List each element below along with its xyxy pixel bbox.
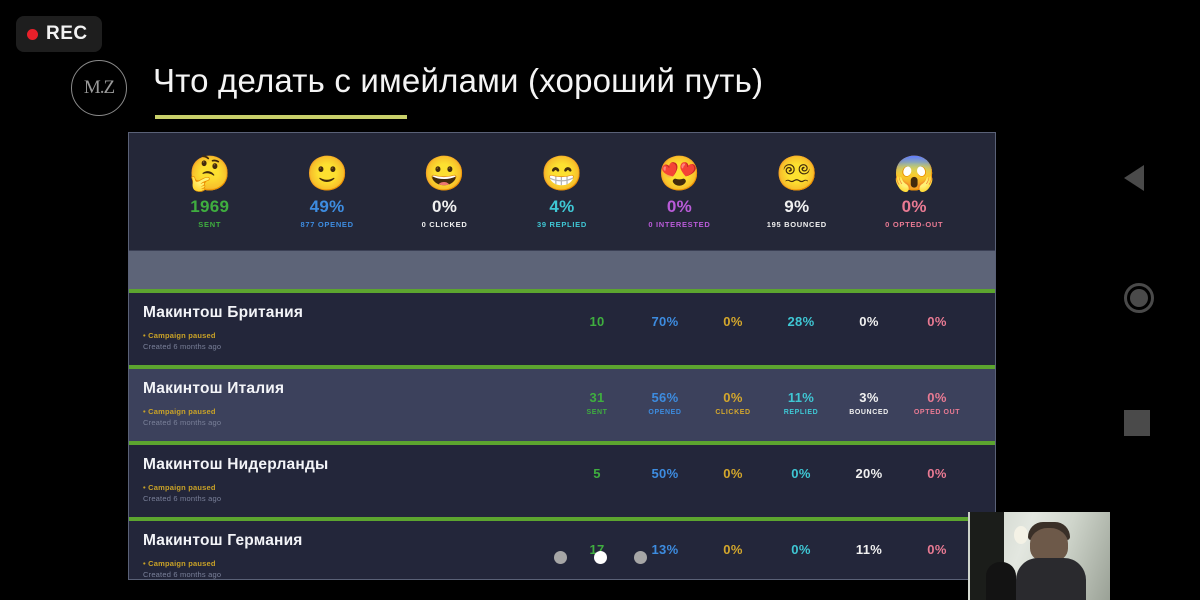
campaign-metrics: 1713%0%0%11%0% — [563, 532, 971, 557]
campaign-metric-label: OPENED — [648, 409, 681, 416]
screaming-face-emoji: 😱 — [893, 154, 935, 194]
webcam-person-torso — [1016, 558, 1086, 600]
player-controls — [1116, 0, 1176, 600]
campaign-row[interactable]: Макинтош Италия• Campaign pausedCreated … — [129, 369, 995, 441]
campaign-metric-value: 11% — [856, 542, 882, 557]
summary-stat-label: 195 BOUNCED — [767, 220, 827, 229]
summary-stat: 😵‍💫9%195 BOUNCED — [738, 154, 855, 229]
campaign-metric: 31SENT — [563, 390, 631, 416]
campaign-metric: 20% — [835, 466, 903, 481]
campaign-metric-label: SENT — [586, 409, 607, 416]
rec-label: REC — [46, 23, 88, 45]
campaign-metric-value: 70% — [652, 314, 679, 329]
campaign-status: • Campaign paused — [143, 331, 563, 340]
campaign-row-main: Макинтош Германия• Campaign pausedCreate… — [143, 532, 563, 579]
campaign-row-main: Макинтош Нидерланды• Campaign pausedCrea… — [143, 456, 563, 503]
summary-stat-value: 1969 — [190, 197, 229, 217]
previous-triangle-icon[interactable] — [1124, 165, 1144, 191]
campaign-metric: 10 — [563, 314, 631, 329]
campaign-metric-label: CLICKED — [715, 409, 750, 416]
campaign-metric: 0% — [767, 542, 835, 557]
campaign-metric: 11% — [835, 542, 903, 557]
presenter-logo: M.Z — [71, 60, 127, 116]
summary-stat-label: 0 CLICKED — [422, 220, 468, 229]
campaign-metric-value: 5 — [593, 466, 601, 481]
campaign-metric: 70% — [631, 314, 699, 329]
summary-stat-value: 9% — [784, 197, 809, 217]
thinking-face-emoji: 🤔 — [189, 154, 231, 194]
stop-square-icon[interactable] — [1124, 410, 1150, 436]
campaign-metric-value: 0% — [723, 390, 742, 405]
webcam-microphone — [986, 562, 1016, 600]
campaign-metrics: 550%0%0%20%0% — [563, 456, 971, 481]
campaign-metric: 0% — [699, 466, 767, 481]
slightly-smiling-face-emoji: 🙂 — [306, 154, 348, 194]
dizzy-face-emoji: 😵‍💫 — [776, 154, 818, 194]
slide-title: Что делать с имейлами (хороший путь) — [153, 62, 763, 100]
campaign-metric-value: 10 — [589, 314, 604, 329]
summary-stat-label: SENT — [198, 220, 221, 229]
summary-stat-label: 877 OPENED — [300, 220, 353, 229]
campaign-metric: 0% — [903, 466, 971, 481]
campaign-metric-value: 0% — [723, 542, 742, 557]
summary-stat-label: 39 REPLIED — [537, 220, 587, 229]
campaign-name: Макинтош Британия — [143, 304, 563, 322]
campaign-metric-value: 0% — [723, 466, 742, 481]
campaign-metrics: 31SENT56%OPENED0%CLICKED11%REPLIED3%BOUN… — [563, 380, 971, 416]
webcam-lamp — [1014, 526, 1028, 544]
campaign-metric: 0%CLICKED — [699, 390, 767, 416]
campaign-metric-label: BOUNCED — [849, 409, 889, 416]
campaign-metric: 0% — [903, 314, 971, 329]
campaign-metric: 0% — [767, 466, 835, 481]
campaign-created: Created 6 months ago — [143, 494, 563, 503]
summary-stat: 😁4%39 REPLIED — [503, 154, 620, 229]
campaign-metrics: 1070%0%28%0%0% — [563, 304, 971, 329]
campaign-metric: 0% — [903, 542, 971, 557]
summary-stat: 😱0%0 OPTED-OUT — [856, 154, 973, 229]
rec-dot-icon — [27, 29, 38, 40]
summary-stat: 🤔1969SENT — [151, 154, 268, 229]
grinning-face-emoji: 😀 — [423, 154, 465, 194]
campaign-metric-value: 0% — [927, 390, 946, 405]
campaign-metric-value: 28% — [788, 314, 815, 329]
summary-stat: 😀0%0 CLICKED — [386, 154, 503, 229]
campaign-summary-stats: 🤔1969SENT🙂49%877 OPENED😀0%0 CLICKED😁4%39… — [129, 133, 995, 251]
section-divider-band — [129, 251, 995, 289]
campaign-metric-label: REPLIED — [784, 409, 819, 416]
summary-stat: 🙂49%877 OPENED — [268, 154, 385, 229]
rec-badge: REC — [16, 16, 102, 52]
campaign-created: Created 6 months ago — [143, 418, 563, 427]
campaign-list: Макинтош Британия• Campaign pausedCreate… — [129, 289, 995, 580]
slide-title-underline — [155, 115, 407, 119]
carousel-dot[interactable] — [554, 551, 567, 564]
campaign-metric-value: 0% — [723, 314, 742, 329]
campaign-metric: 3%BOUNCED — [835, 390, 903, 416]
summary-stat-label: 0 INTERESTED — [648, 220, 710, 229]
campaign-row[interactable]: Макинтош Нидерланды• Campaign pausedCrea… — [129, 445, 995, 517]
summary-stat-value: 0% — [902, 197, 927, 217]
webcam-person-head — [1030, 528, 1068, 562]
campaign-metric: 5 — [563, 466, 631, 481]
campaign-row-main: Макинтош Британия• Campaign pausedCreate… — [143, 304, 563, 351]
logo-text: M.Z — [84, 77, 114, 99]
campaign-metric: 0% — [835, 314, 903, 329]
campaign-metric-value: 50% — [652, 466, 679, 481]
heart-eyes-emoji: 😍 — [658, 154, 700, 194]
campaign-metric-value: 3% — [859, 390, 878, 405]
campaign-metric-value: 31 — [589, 390, 604, 405]
campaign-metric-value: 0% — [859, 314, 878, 329]
campaign-status: • Campaign paused — [143, 559, 563, 568]
summary-stat: 😍0%0 INTERESTED — [621, 154, 738, 229]
campaign-name: Макинтош Нидерланды — [143, 456, 563, 474]
campaign-row[interactable]: Макинтош Британия• Campaign pausedCreate… — [129, 293, 995, 365]
summary-stat-value: 49% — [310, 197, 345, 217]
campaign-metric: 0% — [699, 314, 767, 329]
campaign-metric: 0%OPTED OUT — [903, 390, 971, 416]
campaign-row-wrapper: Макинтош Британия• Campaign pausedCreate… — [129, 289, 995, 365]
campaign-metric-value: 13% — [652, 542, 679, 557]
carousel-dot[interactable] — [594, 551, 607, 564]
campaign-row-wrapper: Макинтош Германия• Campaign pausedCreate… — [129, 517, 995, 580]
carousel-dot[interactable] — [634, 551, 647, 564]
campaign-name: Макинтош Германия — [143, 532, 563, 550]
summary-stat-value: 0% — [667, 197, 692, 217]
record-circle-icon[interactable] — [1124, 283, 1154, 313]
campaign-metric-label: OPTED OUT — [914, 409, 960, 416]
campaign-metric: 56%OPENED — [631, 390, 699, 416]
summary-stat-label: 0 OPTED-OUT — [885, 220, 943, 229]
campaign-row-wrapper: Макинтош Нидерланды• Campaign pausedCrea… — [129, 441, 995, 517]
campaign-metric-value: 0% — [791, 542, 810, 557]
campaign-metric: 50% — [631, 466, 699, 481]
campaign-status: • Campaign paused — [143, 407, 563, 416]
campaign-metric-value: 56% — [652, 390, 679, 405]
campaign-metric: 11%REPLIED — [767, 390, 835, 416]
screen-recording-frame: REC M.Z Что делать с имейлами (хороший п… — [0, 0, 1200, 600]
campaign-created: Created 6 months ago — [143, 342, 563, 351]
campaign-metric-value: 20% — [856, 466, 883, 481]
campaign-created: Created 6 months ago — [143, 570, 563, 579]
campaign-metric-value: 0% — [927, 542, 946, 557]
campaign-metric: 0% — [699, 542, 767, 557]
campaign-metric-value: 0% — [791, 466, 810, 481]
webcam-thumbnail[interactable] — [968, 512, 1110, 600]
campaign-metric-value: 0% — [927, 314, 946, 329]
campaign-dashboard-screenshot: 🤔1969SENT🙂49%877 OPENED😀0%0 CLICKED😁4%39… — [128, 132, 996, 580]
beaming-face-emoji: 😁 — [541, 154, 583, 194]
campaign-name: Макинтош Италия — [143, 380, 563, 398]
campaign-metric: 28% — [767, 314, 835, 329]
summary-stat-value: 0% — [432, 197, 457, 217]
campaign-metric-value: 0% — [927, 466, 946, 481]
summary-stat-value: 4% — [549, 197, 574, 217]
campaign-status: • Campaign paused — [143, 483, 563, 492]
campaign-row-wrapper: Макинтош Италия• Campaign pausedCreated … — [129, 365, 995, 441]
campaign-metric-value: 11% — [788, 390, 814, 405]
campaign-row-main: Макинтош Италия• Campaign pausedCreated … — [143, 380, 563, 427]
